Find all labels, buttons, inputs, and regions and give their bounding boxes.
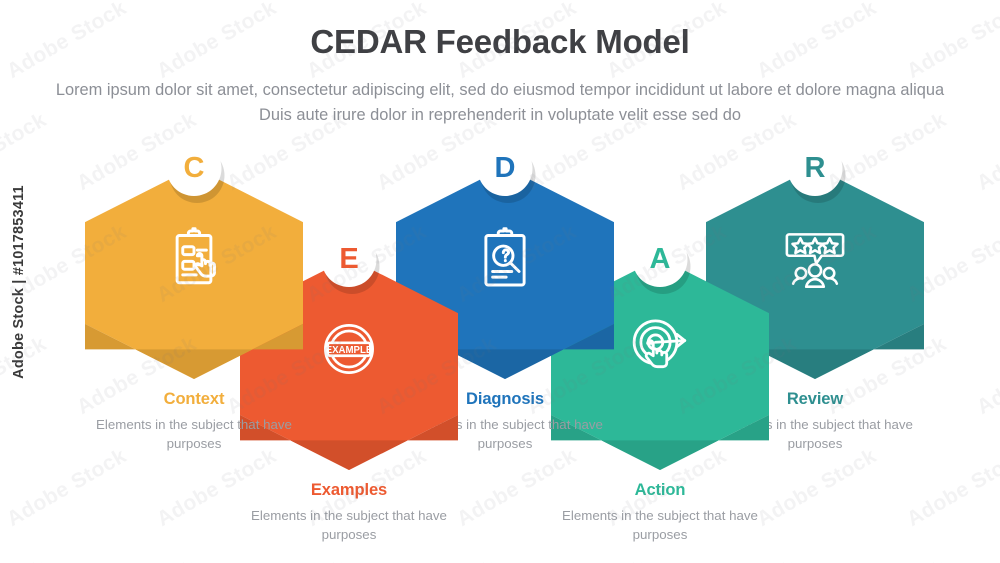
watermark-tile: Adobe Stock <box>523 556 651 563</box>
caption-action: Action Elements in the subject that have… <box>551 481 769 544</box>
watermark-tile: Adobe Stock <box>903 444 1000 532</box>
watermark-side-text: Adobe Stock | #1017853411 <box>11 185 27 379</box>
step-badge-examples: E <box>322 232 377 287</box>
hexagon-context: C <box>85 167 303 379</box>
clipboard-magnifier-icon <box>469 222 541 294</box>
watermark-tile: Adobe Stock <box>3 444 131 532</box>
watermark-tile: Adobe Stock <box>0 332 51 420</box>
target-hand-icon <box>624 313 696 385</box>
watermark-tile: Adobe Stock <box>73 556 201 563</box>
watermark-tile: Adobe Stock <box>223 556 351 563</box>
svg-text:EXAMPLE: EXAMPLE <box>326 345 373 356</box>
cedar-step-context: C Context Elements in the subject that h… <box>85 167 303 453</box>
watermark-tile: Adobe Stock <box>373 556 501 563</box>
watermark-sidebar: Adobe Stock | #1017853411 <box>2 0 36 563</box>
watermark-tile: Adobe Stock <box>973 108 1000 196</box>
step-badge-context: C <box>167 141 222 196</box>
caption-context: Context Elements in the subject that hav… <box>85 390 303 453</box>
badge-letter: C <box>184 154 205 183</box>
badge-circle: R <box>788 141 843 196</box>
badge-circle: C <box>167 141 222 196</box>
page-subtitle: Lorem ipsum dolor sit amet, consectetur … <box>44 78 956 128</box>
example-stamp-icon: EXAMPLE <box>313 313 385 385</box>
review-stars-people-icon <box>779 222 851 294</box>
badge-letter: D <box>495 154 516 183</box>
badge-letter: R <box>805 154 826 183</box>
page-title: CEDAR Feedback Model <box>0 23 1000 61</box>
step-title: Context <box>85 390 303 409</box>
clipboard-hand-icon <box>158 222 230 294</box>
step-badge-diagnosis: D <box>478 141 533 196</box>
step-badge-action: A <box>633 232 688 287</box>
badge-circle: E <box>322 232 377 287</box>
watermark-tile: Adobe Stock <box>973 332 1000 420</box>
infographic-canvas: CEDAR Feedback Model Lorem ipsum dolor s… <box>0 0 1000 563</box>
watermark-tile: Adobe Stock <box>753 444 881 532</box>
watermark-tile: Adobe Stock <box>0 556 51 563</box>
badge-circle: A <box>633 232 688 287</box>
step-title: Examples <box>240 481 458 500</box>
step-description: Elements in the subject that have purpos… <box>85 416 303 453</box>
watermark-tile: Adobe Stock <box>673 556 801 563</box>
badge-letter: A <box>650 245 671 274</box>
caption-examples: Examples Elements in the subject that ha… <box>240 481 458 544</box>
step-badge-review: R <box>788 141 843 196</box>
step-title: Action <box>551 481 769 500</box>
step-description: Elements in the subject that have purpos… <box>551 507 769 544</box>
watermark-tile: Adobe Stock <box>973 556 1000 563</box>
step-description: Elements in the subject that have purpos… <box>240 507 458 544</box>
badge-circle: D <box>478 141 533 196</box>
watermark-tile: Adobe Stock <box>823 556 951 563</box>
badge-letter: E <box>339 245 358 274</box>
